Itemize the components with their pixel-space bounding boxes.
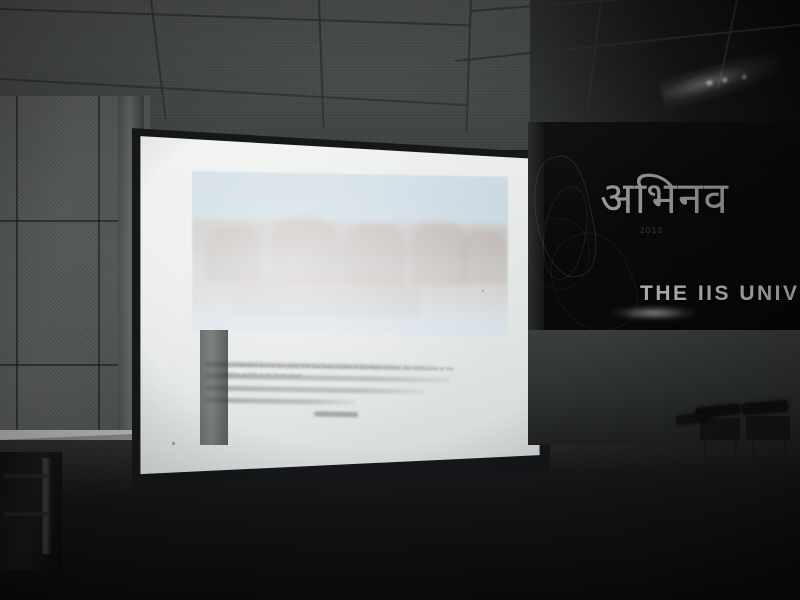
projected-slide: There is a civilization across the years… — [192, 161, 510, 457]
chair-seat — [746, 416, 790, 440]
fixture-lamp-dot — [742, 75, 747, 79]
banner-english-title: THE IIS UNIV — [640, 282, 800, 306]
chair-seat — [700, 418, 740, 440]
chair-leg — [784, 438, 787, 466]
chair-leg — [704, 438, 707, 464]
ceiling-grid-line — [150, 0, 167, 119]
foreground-post — [42, 458, 51, 554]
screen-speck — [482, 290, 484, 292]
right-wall-column — [200, 330, 228, 445]
event-banner: अभिनव 2013 THE IIS UNIV — [528, 122, 800, 337]
projection-screen[interactable]: There is a civilization across the years… — [132, 120, 550, 492]
foreground-bar — [4, 474, 48, 478]
chair-leg — [734, 438, 737, 464]
ceiling-grid-line — [0, 8, 470, 26]
slide-photograph — [192, 171, 508, 337]
caption-line — [206, 397, 356, 405]
screen-surface[interactable]: There is a civilization across the years… — [138, 124, 542, 482]
caption-attribution — [314, 411, 358, 417]
foreground-bar — [4, 512, 48, 516]
fixture-lamp-dot — [706, 80, 713, 86]
slide-caption: There is a civilization across the years… — [206, 361, 456, 427]
foreground-equipment — [0, 452, 62, 570]
photo-haze-overlay — [192, 171, 508, 337]
banner-swirl-decoration — [528, 218, 590, 290]
ceiling-grid-line — [465, 0, 472, 132]
screen-speck — [172, 442, 175, 445]
caption-line — [206, 385, 424, 394]
chair-leg — [752, 438, 755, 466]
fixture-lamp-dot — [722, 77, 728, 82]
auditorium-scene: There is a civilization across the years… — [0, 0, 800, 600]
banner-hindi-title: अभिनव — [600, 166, 729, 226]
banner-subtitle: 2013 — [640, 226, 663, 235]
banner-light-glare — [612, 306, 696, 320]
